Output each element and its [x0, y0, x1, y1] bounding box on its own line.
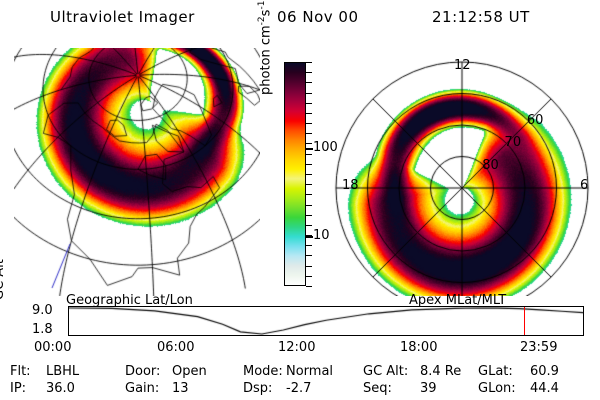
status-value-gain: 13	[172, 381, 189, 396]
time-axis-tick-3: 18:00	[400, 340, 437, 355]
mlt-label-12: 12	[454, 58, 471, 73]
colorbar-gradient	[285, 63, 305, 285]
status-key-ip: IP:	[10, 381, 26, 396]
status-key-seq: Seq:	[363, 381, 392, 396]
current-time-marker	[524, 307, 525, 335]
status-value-glat: 60.9	[530, 364, 559, 379]
status-value-mode: Normal	[286, 364, 333, 379]
apex-mlat-mlt-panel[interactable]: 121860607080	[330, 46, 592, 296]
altitude-ytick-high: 9.0	[32, 303, 53, 318]
mlt-label-18: 18	[342, 178, 359, 193]
colorbar-unit-exp1: -2	[257, 16, 267, 25]
colorbar-label-100: 100	[313, 140, 338, 155]
status-key-glat: GLat:	[478, 364, 513, 379]
status-value-dsp: -2.7	[286, 381, 311, 396]
mlat-label-70: 70	[505, 135, 522, 150]
status-key-gcalt: GC Alt:	[363, 364, 408, 379]
status-value-flt: LBHL	[46, 364, 79, 379]
colorbar-unit-main: photon cm	[258, 25, 273, 95]
colorbar-unit-mid: s	[258, 10, 273, 17]
altitude-timeseries-curve	[69, 307, 583, 335]
observation-time: 21:12:58 UT	[432, 8, 530, 26]
status-key-flt: Flt:	[10, 364, 31, 379]
colorbar	[284, 62, 306, 286]
instrument-title: Ultraviolet Imager	[50, 8, 195, 26]
title-bar: Ultraviolet Imager 06 Nov 00 21:12:58 UT	[0, 8, 600, 30]
mlat-label-60: 60	[527, 113, 544, 128]
mlt-label-6: 6	[580, 178, 588, 193]
status-value-door: Open	[172, 364, 207, 379]
status-row-1: Flt:LBHLDoor:OpenMode:NormalGC Alt:8.4 R…	[0, 364, 600, 380]
status-key-door: Door:	[125, 364, 160, 379]
colorbar-label-10: 10	[313, 228, 330, 243]
status-key-glon: GLon:	[478, 381, 516, 396]
time-axis-tick-0: 00:00	[34, 340, 71, 355]
colorbar-axis-title: photon cm-2s-1	[257, 0, 273, 95]
observation-date: 06 Nov 00	[277, 8, 359, 26]
altitude-ytick-low: 1.8	[32, 322, 53, 337]
status-key-mode: Mode:	[243, 364, 283, 379]
status-row-2: IP:36.0Gain:13Dsp:-2.7Seq:39GLon:44.4	[0, 381, 600, 397]
status-block: Flt:LBHLDoor:OpenMode:NormalGC Alt:8.4 R…	[0, 364, 600, 398]
apex-aurora-polar-plot[interactable]	[330, 46, 592, 296]
status-key-gain: Gain:	[125, 381, 159, 396]
colorbar-ticks	[306, 62, 313, 286]
mlat-label-80: 80	[482, 158, 499, 173]
time-axis-tick-1: 06:00	[157, 340, 194, 355]
time-axis-tick-2: 12:00	[278, 340, 315, 355]
time-axis-tick-4: 23:59	[520, 340, 557, 355]
status-key-dsp: Dsp:	[243, 381, 272, 396]
status-value-gcalt: 8.4 Re	[420, 364, 461, 379]
geographic-aurora-map[interactable]	[14, 48, 260, 296]
status-value-ip: 36.0	[46, 381, 75, 396]
status-value-seq: 39	[420, 381, 437, 396]
colorbar-unit-exp2: -1	[257, 1, 267, 10]
altitude-axis-label: GC Alt	[0, 254, 7, 300]
altitude-timeseries-panel[interactable]	[68, 306, 584, 336]
geographic-image-panel[interactable]	[14, 48, 260, 296]
status-value-glon: 44.4	[530, 381, 559, 396]
